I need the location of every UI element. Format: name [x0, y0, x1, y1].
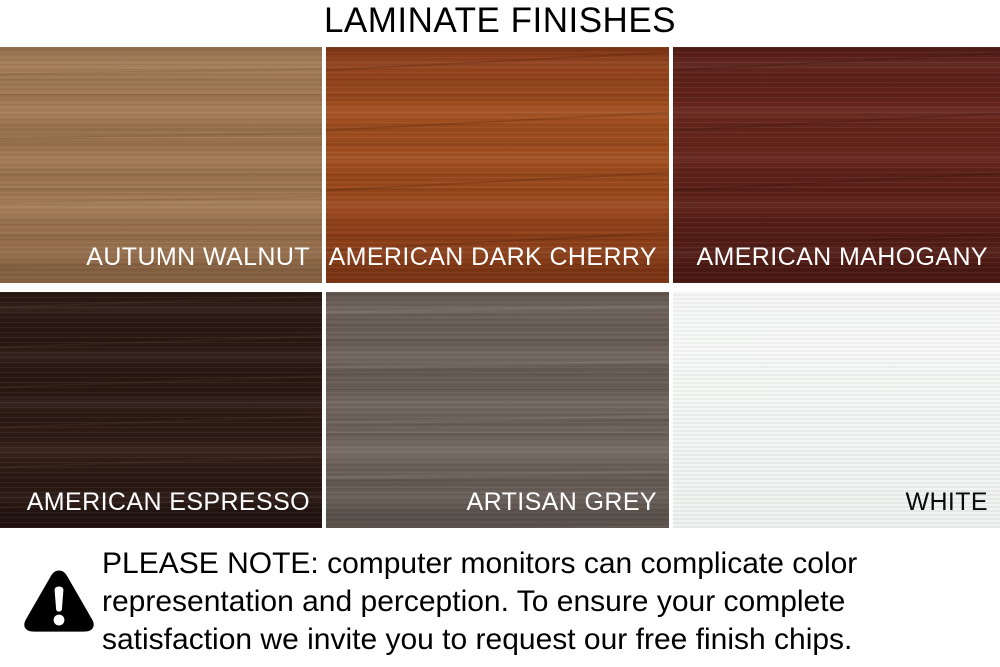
swatch-artisan-grey[interactable]: ARTISAN GREY — [326, 292, 669, 528]
swatch-american-mahogany[interactable]: AMERICAN MAHOGANY — [673, 47, 1000, 283]
warning-triangle-icon — [16, 567, 102, 637]
disclaimer-line-2: representation and perception. To ensure… — [102, 583, 986, 621]
swatch-label: AMERICAN ESPRESSO — [27, 489, 322, 528]
disclaimer-text: PLEASE NOTE: computer monitors can compl… — [102, 545, 1000, 659]
disclaimer-line-1: PLEASE NOTE: computer monitors can compl… — [102, 545, 986, 583]
laminate-finishes-page: LAMINATE FINISHES AUTUMN WALNUT AMERICAN… — [0, 0, 1000, 667]
swatch-grid: AUTUMN WALNUT AMERICAN DARK CHERRY AMERI… — [0, 47, 1000, 528]
swatch-label: WHITE — [905, 489, 1000, 528]
swatch-label: AMERICAN MAHOGANY — [696, 244, 1000, 283]
page-title: LAMINATE FINISHES — [0, 0, 1000, 43]
swatch-american-dark-cherry[interactable]: AMERICAN DARK CHERRY — [326, 47, 669, 283]
swatch-american-espresso[interactable]: AMERICAN ESPRESSO — [0, 292, 322, 528]
disclaimer-note: PLEASE NOTE: computer monitors can compl… — [0, 536, 1000, 667]
swatch-autumn-walnut[interactable]: AUTUMN WALNUT — [0, 47, 322, 283]
swatch-white[interactable]: WHITE — [673, 292, 1000, 528]
swatch-label: ARTISAN GREY — [467, 489, 670, 528]
disclaimer-line-3: satisfaction we invite you to request ou… — [102, 621, 986, 659]
swatch-label: AUTUMN WALNUT — [86, 244, 322, 283]
swatch-label: AMERICAN DARK CHERRY — [329, 244, 669, 283]
